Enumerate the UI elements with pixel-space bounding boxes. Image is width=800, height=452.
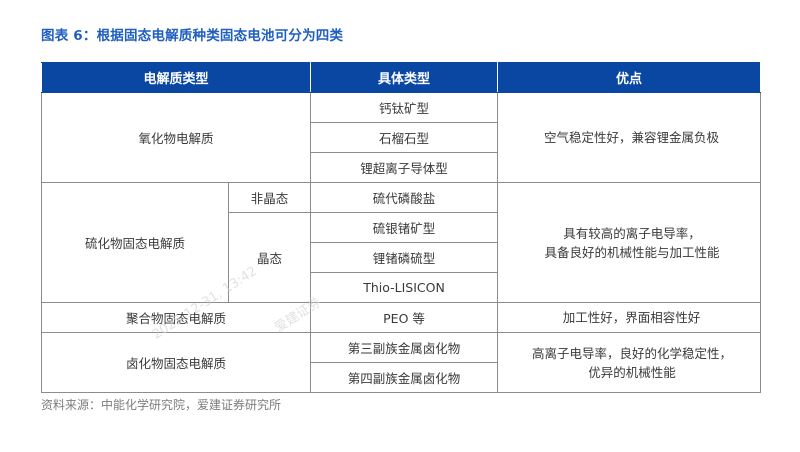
table-header: 电解质类型 具体类型 优点 bbox=[42, 63, 761, 93]
advantage-text: 空气稳定性好，兼容锂金属负极 bbox=[500, 128, 763, 147]
advantage-cell: 高离子电导率，良好的化学稳定性，优异的机械性能 bbox=[498, 333, 761, 393]
specific-type-cell: 锂超离子导体型 bbox=[311, 153, 498, 183]
table-row: 硫化物固态电解质 非晶态 硫代磷酸盐 具有较高的离子电导率，具备良好的机械性能与… bbox=[42, 183, 761, 213]
specific-type-cell: 硫代磷酸盐 bbox=[311, 183, 498, 213]
column-header-electrolyte-type: 电解质类型 bbox=[42, 63, 311, 93]
page-title: 图表 6：根据固态电解质种类固态电池可分为四类 bbox=[41, 24, 343, 44]
specific-type-cell: 第四副族金属卤化物 bbox=[311, 363, 498, 393]
advantage-cell: 加工性好，界面相容性好 bbox=[498, 303, 761, 333]
specific-type-cell: PEO 等 bbox=[311, 303, 498, 333]
specific-type-cell: 石榴石型 bbox=[311, 123, 498, 153]
specific-type-cell: 硫银锗矿型 bbox=[311, 213, 498, 243]
column-header-specific-type: 具体类型 bbox=[311, 63, 498, 93]
advantage-text: 加工性好，界面相容性好 bbox=[500, 308, 763, 327]
figure-page: 图表 6：根据固态电解质种类固态电池可分为四类 2025-12-31, 13:4… bbox=[0, 0, 800, 452]
table-row: 聚合物固态电解质 PEO 等 加工性好，界面相容性好 bbox=[42, 303, 761, 333]
table-body: 氧化物电解质 钙钛矿型 空气稳定性好，兼容锂金属负极 石榴石型 锂超离子导体型 … bbox=[42, 93, 761, 393]
electrolyte-table-container: 电解质类型 具体类型 优点 氧化物电解质 钙钛矿型 空气稳定性好，兼容锂金属负极… bbox=[41, 62, 760, 393]
source-note: 资料来源：中能化学研究院，爱建证券研究所 bbox=[41, 396, 281, 413]
advantage-text: 具有较高的离子电导率，具备良好的机械性能与加工性能 bbox=[496, 224, 768, 262]
advantage-cell: 具有较高的离子电导率，具备良好的机械性能与加工性能 bbox=[498, 183, 761, 303]
column-header-advantage: 优点 bbox=[498, 63, 761, 93]
group-name-cell: 卤化物固态电解质 bbox=[42, 333, 311, 393]
table-header-row: 电解质类型 具体类型 优点 bbox=[42, 63, 761, 93]
subgroup-name-cell: 非晶态 bbox=[229, 183, 311, 213]
group-name-cell: 硫化物固态电解质 bbox=[42, 183, 229, 303]
group-name-cell: 氧化物电解质 bbox=[42, 93, 311, 183]
specific-type-cell: 钙钛矿型 bbox=[311, 93, 498, 123]
subgroup-name-cell: 晶态 bbox=[229, 213, 311, 303]
advantage-cell: 空气稳定性好，兼容锂金属负极 bbox=[498, 93, 761, 183]
table-row: 卤化物固态电解质 第三副族金属卤化物 高离子电导率，良好的化学稳定性，优异的机械… bbox=[42, 333, 761, 363]
table-row: 氧化物电解质 钙钛矿型 空气稳定性好，兼容锂金属负极 bbox=[42, 93, 761, 123]
specific-type-cell: 锂锗磷硫型 bbox=[311, 243, 498, 273]
electrolyte-table: 电解质类型 具体类型 优点 氧化物电解质 钙钛矿型 空气稳定性好，兼容锂金属负极… bbox=[41, 62, 761, 393]
advantage-text: 高离子电导率，良好的化学稳定性，优异的机械性能 bbox=[496, 344, 768, 382]
specific-type-cell: 第三副族金属卤化物 bbox=[311, 333, 498, 363]
group-name-cell: 聚合物固态电解质 bbox=[42, 303, 311, 333]
specific-type-cell: Thio-LISICON bbox=[311, 273, 498, 303]
